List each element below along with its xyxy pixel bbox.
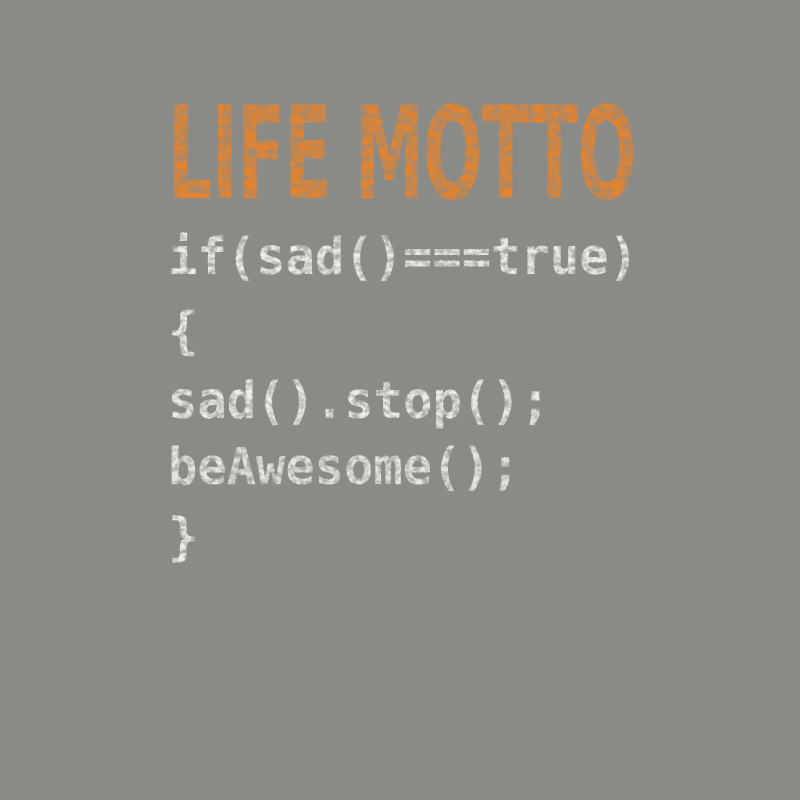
code-line-2: { [168,302,199,361]
code-line-4: beAwesome(); [168,438,520,497]
code-glyph-group: if(sad()===true) { sad().stop(); beAweso… [168,228,638,567]
code-block: if(sad()===true) { sad().stop(); beAweso… [166,222,786,572]
poster-canvas: LIFE MOTTO if(sad()===true) { sad().stop… [0,0,800,800]
title-svg: LIFE MOTTO [168,100,768,220]
code-svg: if(sad()===true) { sad().stop(); beAweso… [166,222,786,572]
code-line-5: } [168,508,199,567]
title-block: LIFE MOTTO [168,100,768,220]
code-line-3: sad().stop(); [168,372,550,431]
code-line-1: if(sad()===true) [168,228,638,287]
page-title: LIFE MOTTO [168,80,636,229]
